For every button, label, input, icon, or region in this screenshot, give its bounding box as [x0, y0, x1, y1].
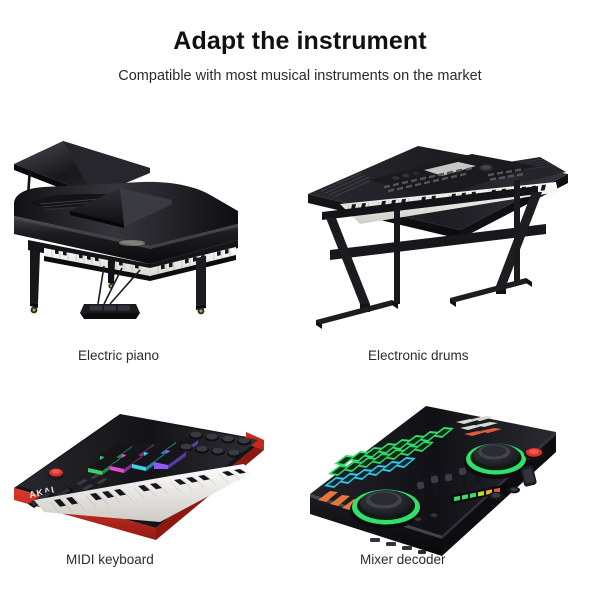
instrument-grid: Electric piano	[0, 108, 600, 600]
mixer-jog-wheel-right	[464, 444, 528, 480]
caption-midi-keyboard: MIDI keyboard	[66, 552, 154, 567]
caption-electric-piano: Electric piano	[78, 348, 159, 363]
caption-electronic-drums: Electronic drums	[368, 348, 469, 363]
digital-keyboard-on-stand-illustration	[300, 108, 600, 370]
mixer-jog-wheel-left	[350, 490, 422, 530]
audio-mixer-sound-card-illustration	[300, 370, 600, 600]
instrument-cell-midi-keyboard: AKAI	[0, 370, 300, 600]
page-title: Adapt the instrument	[0, 28, 600, 56]
caption-mixer-decoder: Mixer decoder	[360, 552, 446, 567]
instrument-cell-mixer-decoder: Mixer decoder	[300, 370, 600, 600]
page-subtitle: Compatible with most musical instruments…	[0, 68, 600, 84]
instrument-cell-electric-piano: Electric piano	[0, 108, 300, 370]
header: Adapt the instrument Compatible with mos…	[0, 0, 600, 84]
instrument-cell-electronic-drums: Electronic drums	[300, 108, 600, 370]
product-infographic: Adapt the instrument Compatible with mos…	[0, 0, 600, 600]
grand-piano-illustration	[0, 108, 300, 370]
